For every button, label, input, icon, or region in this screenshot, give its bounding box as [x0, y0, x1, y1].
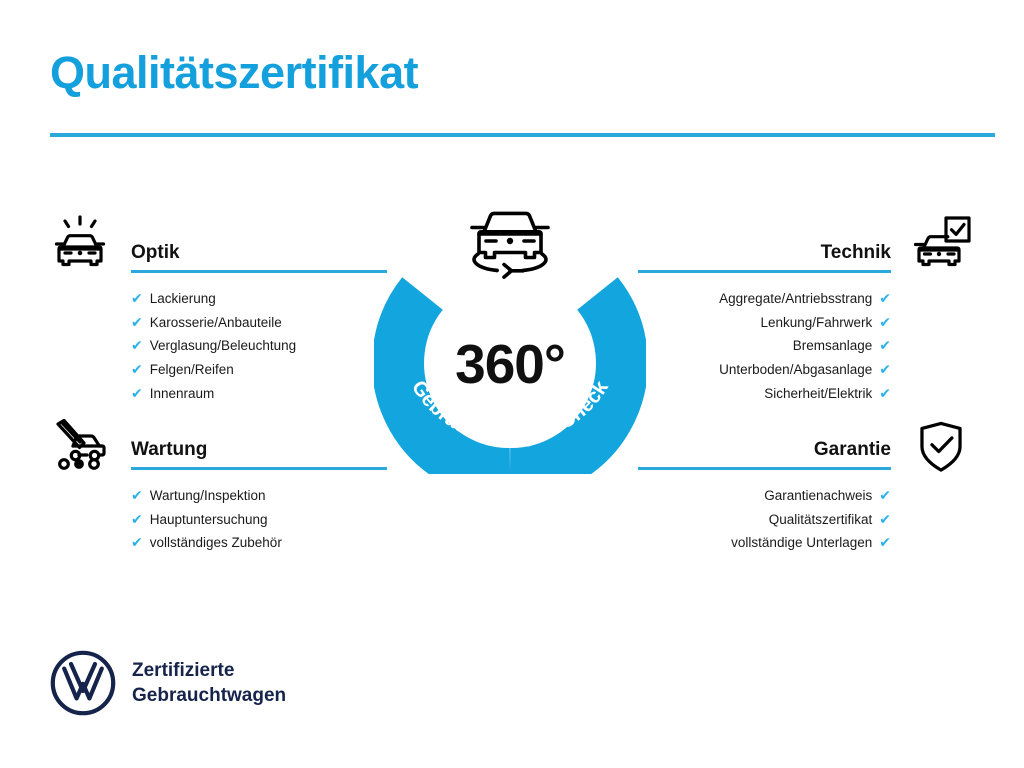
check-icon: ✔ — [879, 338, 891, 352]
list-item-label: Felgen/Reifen — [150, 358, 234, 382]
check-icon: ✔ — [879, 512, 891, 526]
list-item-label: Garantienachweis — [764, 484, 872, 508]
section-divider-wartung — [131, 467, 387, 470]
car-shine-icon — [48, 213, 112, 277]
list-item: Sicherheit/Elektrik ✔ — [638, 382, 891, 406]
list-item: ✔ Karosserie/Anbauteile — [131, 311, 387, 335]
page-title: Qualitätszertifikat — [50, 48, 418, 98]
list-item-label: Verglasung/Beleuchtung — [150, 334, 296, 358]
car-rotate-360-icon — [458, 206, 562, 290]
list-item-label: Karosserie/Anbauteile — [150, 311, 282, 335]
section-divider-technik — [638, 270, 891, 273]
list-item-label: Lackierung — [150, 287, 216, 311]
section-heading-wartung: Wartung — [131, 440, 387, 459]
section-heading-optik: Optik — [131, 243, 387, 262]
volkswagen-logo-icon — [50, 650, 116, 716]
check-icon: ✔ — [131, 315, 143, 329]
section-heading-garantie: Garantie — [638, 440, 891, 459]
list-item: ✔ Hauptuntersuchung — [131, 508, 387, 532]
list-item-label: Innenraum — [150, 382, 215, 406]
list-item: ✔ Lackierung — [131, 287, 387, 311]
car-checkbox-icon — [910, 213, 974, 277]
vw-wordmark-line1: Zertifizierte — [132, 658, 286, 683]
checklist-garantie: Garantienachweis ✔ Qualitätszertifikat ✔… — [638, 484, 891, 555]
check-icon: ✔ — [131, 512, 143, 526]
check-icon: ✔ — [131, 535, 143, 549]
list-item: Aggregate/Antriebsstrang ✔ — [638, 287, 891, 311]
car-service-tool-icon — [48, 412, 112, 476]
list-item-label: Aggregate/Antriebsstrang — [719, 287, 872, 311]
check-icon: ✔ — [879, 535, 891, 549]
list-item-label: vollständiges Zubehör — [150, 531, 282, 555]
list-item-label: Lenkung/Fahrwerk — [760, 311, 872, 335]
section-garantie: Garantie Garantienachweis ✔ Qualitätszer… — [638, 440, 891, 555]
list-item: Lenkung/Fahrwerk ✔ — [638, 311, 891, 335]
section-wartung: Wartung ✔ Wartung/Inspektion ✔ Hauptunte… — [131, 440, 387, 555]
list-item-label: Sicherheit/Elektrik — [764, 382, 872, 406]
section-heading-technik: Technik — [638, 243, 891, 262]
list-item-label: Qualitätszertifikat — [769, 508, 873, 532]
list-item: Garantienachweis ✔ — [638, 484, 891, 508]
check-icon: ✔ — [879, 488, 891, 502]
checklist-wartung: ✔ Wartung/Inspektion ✔ Hauptuntersuchung… — [131, 484, 387, 555]
list-item-label: Unterboden/Abgasanlage — [719, 358, 872, 382]
check-icon: ✔ — [131, 338, 143, 352]
list-item: ✔ Felgen/Reifen — [131, 358, 387, 382]
list-item: Unterboden/Abgasanlage ✔ — [638, 358, 891, 382]
header-divider — [50, 133, 995, 137]
list-item: vollständige Unterlagen ✔ — [638, 531, 891, 555]
check-icon: ✔ — [879, 386, 891, 400]
section-optik: Optik ✔ Lackierung ✔ Karosserie/Anbautei… — [131, 243, 387, 406]
list-item: ✔ Verglasung/Beleuchtung — [131, 334, 387, 358]
badge-value: 360° — [374, 337, 646, 392]
checklist-optik: ✔ Lackierung ✔ Karosserie/Anbauteile ✔ V… — [131, 287, 387, 406]
section-divider-optik — [131, 270, 387, 273]
section-technik: Technik Aggregate/Antriebsstrang ✔ Lenku… — [638, 243, 891, 406]
vw-wordmark: Zertifizierte Gebrauchtwagen — [132, 658, 286, 708]
vw-wordmark-line2: Gebrauchtwagen — [132, 683, 286, 708]
section-divider-garantie — [638, 467, 891, 470]
check-icon: ✔ — [131, 362, 143, 376]
check-icon: ✔ — [131, 386, 143, 400]
check-icon: ✔ — [879, 291, 891, 305]
vw-certified-lockup: Zertifizierte Gebrauchtwagen — [50, 650, 286, 716]
list-item: Qualitätszertifikat ✔ — [638, 508, 891, 532]
list-item: ✔ vollständiges Zubehör — [131, 531, 387, 555]
check-icon: ✔ — [879, 315, 891, 329]
check-icon: ✔ — [131, 488, 143, 502]
list-item-label: Bremsanlage — [793, 334, 873, 358]
checklist-technik: Aggregate/Antriebsstrang ✔ Lenkung/Fahrw… — [638, 287, 891, 406]
list-item-label: Hauptuntersuchung — [150, 508, 268, 532]
list-item: ✔ Wartung/Inspektion — [131, 484, 387, 508]
check-icon: ✔ — [879, 362, 891, 376]
list-item: ✔ Innenraum — [131, 382, 387, 406]
list-item-label: vollständige Unterlagen — [731, 531, 872, 555]
shield-check-icon — [912, 418, 970, 476]
check-icon: ✔ — [131, 291, 143, 305]
list-item-label: Wartung/Inspektion — [150, 484, 266, 508]
list-item: Bremsanlage ✔ — [638, 334, 891, 358]
